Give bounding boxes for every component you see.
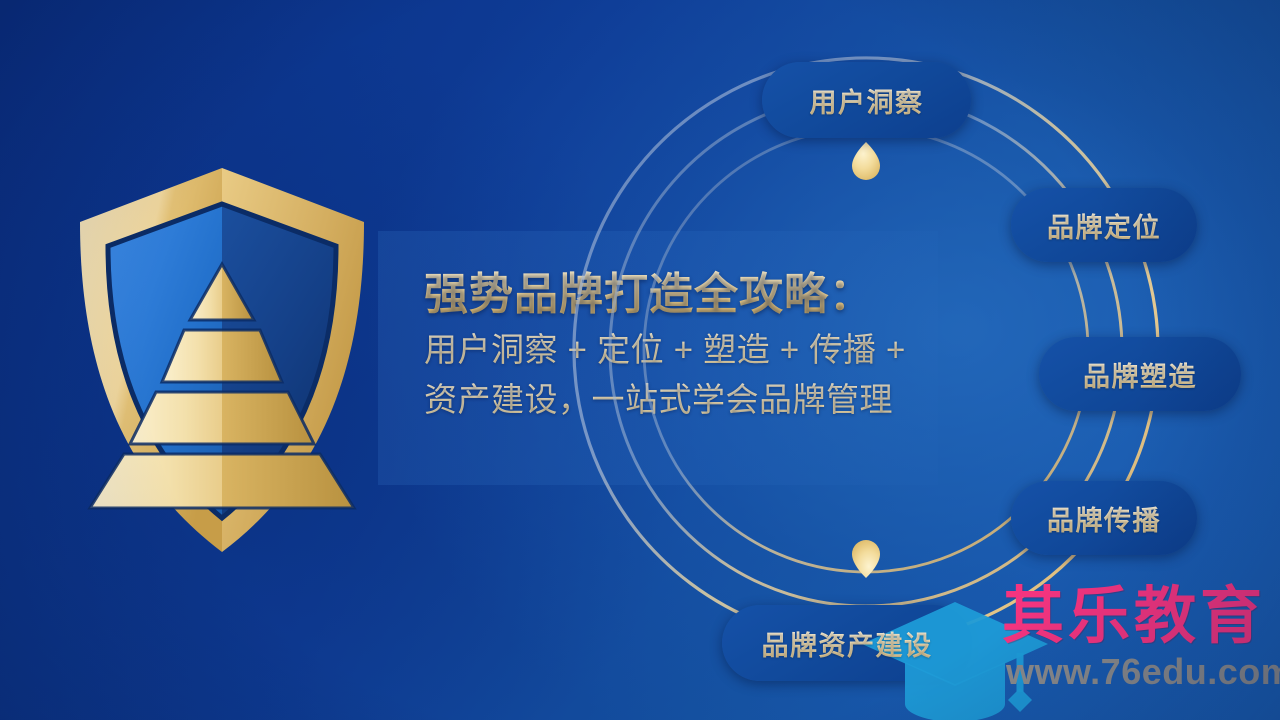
watermark-brand-text: 其乐教育 [1002,586,1266,648]
cycle-node-label: 品牌定位 [1047,206,1161,245]
cycle-marker-top [852,142,880,180]
watermark-logo: 其乐教育 www.76edu.com [940,586,1280,716]
watermark-url-text: www.76edu.com [1006,654,1280,690]
cycle-node-brand-spread[interactable]: 品牌传播 [1011,481,1197,555]
brand-shield-emblem [62,160,382,560]
cycle-node-label: 用户洞察 [810,81,924,120]
cycle-node-label: 品牌塑造 [1083,355,1197,394]
brand-cycle-diagram: 用户洞察 品牌定位 品牌塑造 品牌传播 品牌资产建设 [570,20,1210,680]
cycle-node-label: 品牌传播 [1047,499,1161,538]
cycle-node-user-insight[interactable]: 用户洞察 [762,62,971,138]
cycle-node-label: 品牌资产建设 [762,624,933,663]
cycle-node-brand-shaping[interactable]: 品牌塑造 [1039,337,1241,411]
cycle-node-brand-position[interactable]: 品牌定位 [1011,188,1197,262]
slide-canvas: 强势品牌打造全攻略： 用户洞察 + 定位 + 塑造 + 传播 + 资产建设，一站… [0,0,1280,720]
